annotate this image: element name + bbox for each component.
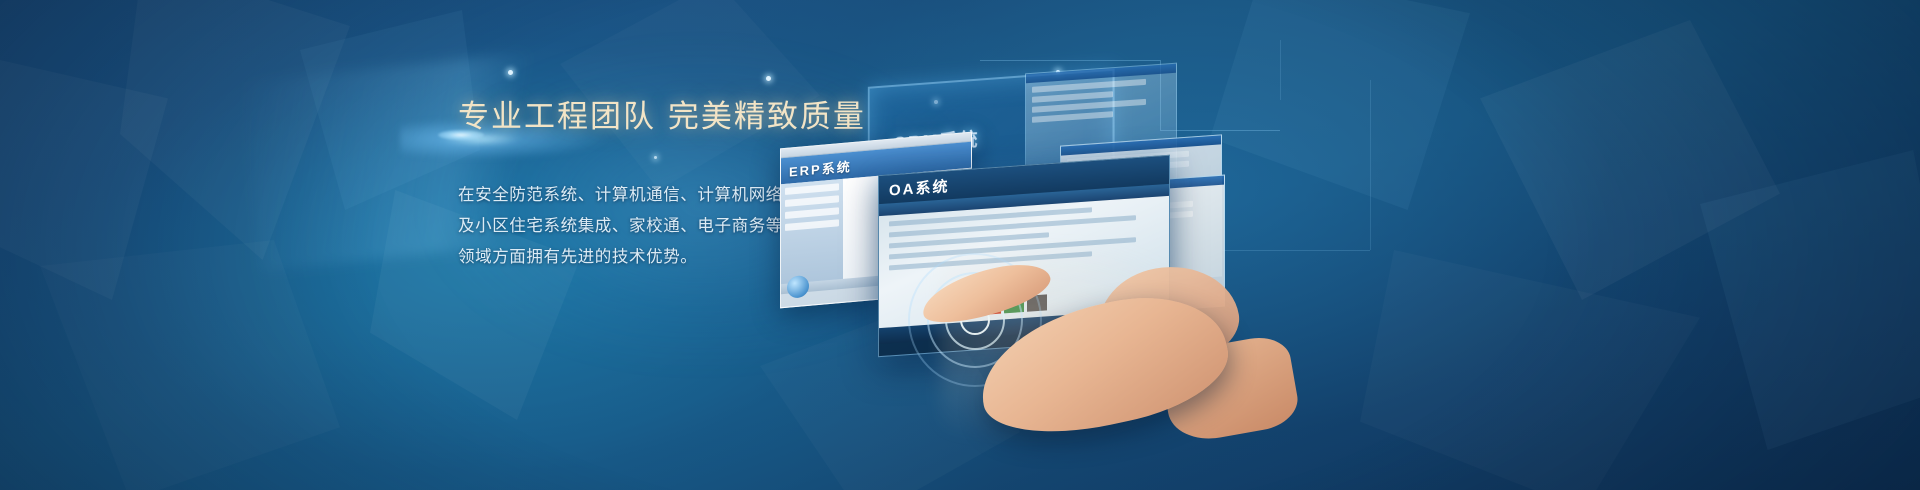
nav-item[interactable] bbox=[785, 219, 839, 231]
software-screens-cluster: CRM系统 客户关系管理系统 bbox=[760, 30, 1460, 460]
sparkle-dot bbox=[508, 70, 513, 75]
erp-logo-orb bbox=[787, 275, 809, 299]
window-titlebar bbox=[1026, 64, 1176, 83]
polygon-shape bbox=[120, 0, 350, 260]
oa-window-title: OA系统 bbox=[889, 175, 950, 200]
nav-item[interactable] bbox=[785, 183, 839, 195]
nav-item[interactable] bbox=[785, 195, 839, 207]
pointing-hand-illustration bbox=[920, 235, 1250, 475]
erp-window-title: ERP系统 bbox=[789, 156, 852, 180]
polygon-shape bbox=[300, 10, 480, 210]
nav-item[interactable] bbox=[785, 207, 839, 219]
erp-nav-panel[interactable] bbox=[781, 179, 843, 284]
polygon-shape bbox=[1700, 150, 1920, 450]
polygon-shape bbox=[0, 60, 200, 300]
polygon-shape bbox=[40, 240, 340, 490]
content-row bbox=[1032, 111, 1113, 123]
hero-banner: 专业工程团队 完美精致质量 在安全防范系统、计算机通信、计算机网络、智能大厦 及… bbox=[0, 0, 1920, 490]
polygon-shape bbox=[1480, 20, 1780, 300]
